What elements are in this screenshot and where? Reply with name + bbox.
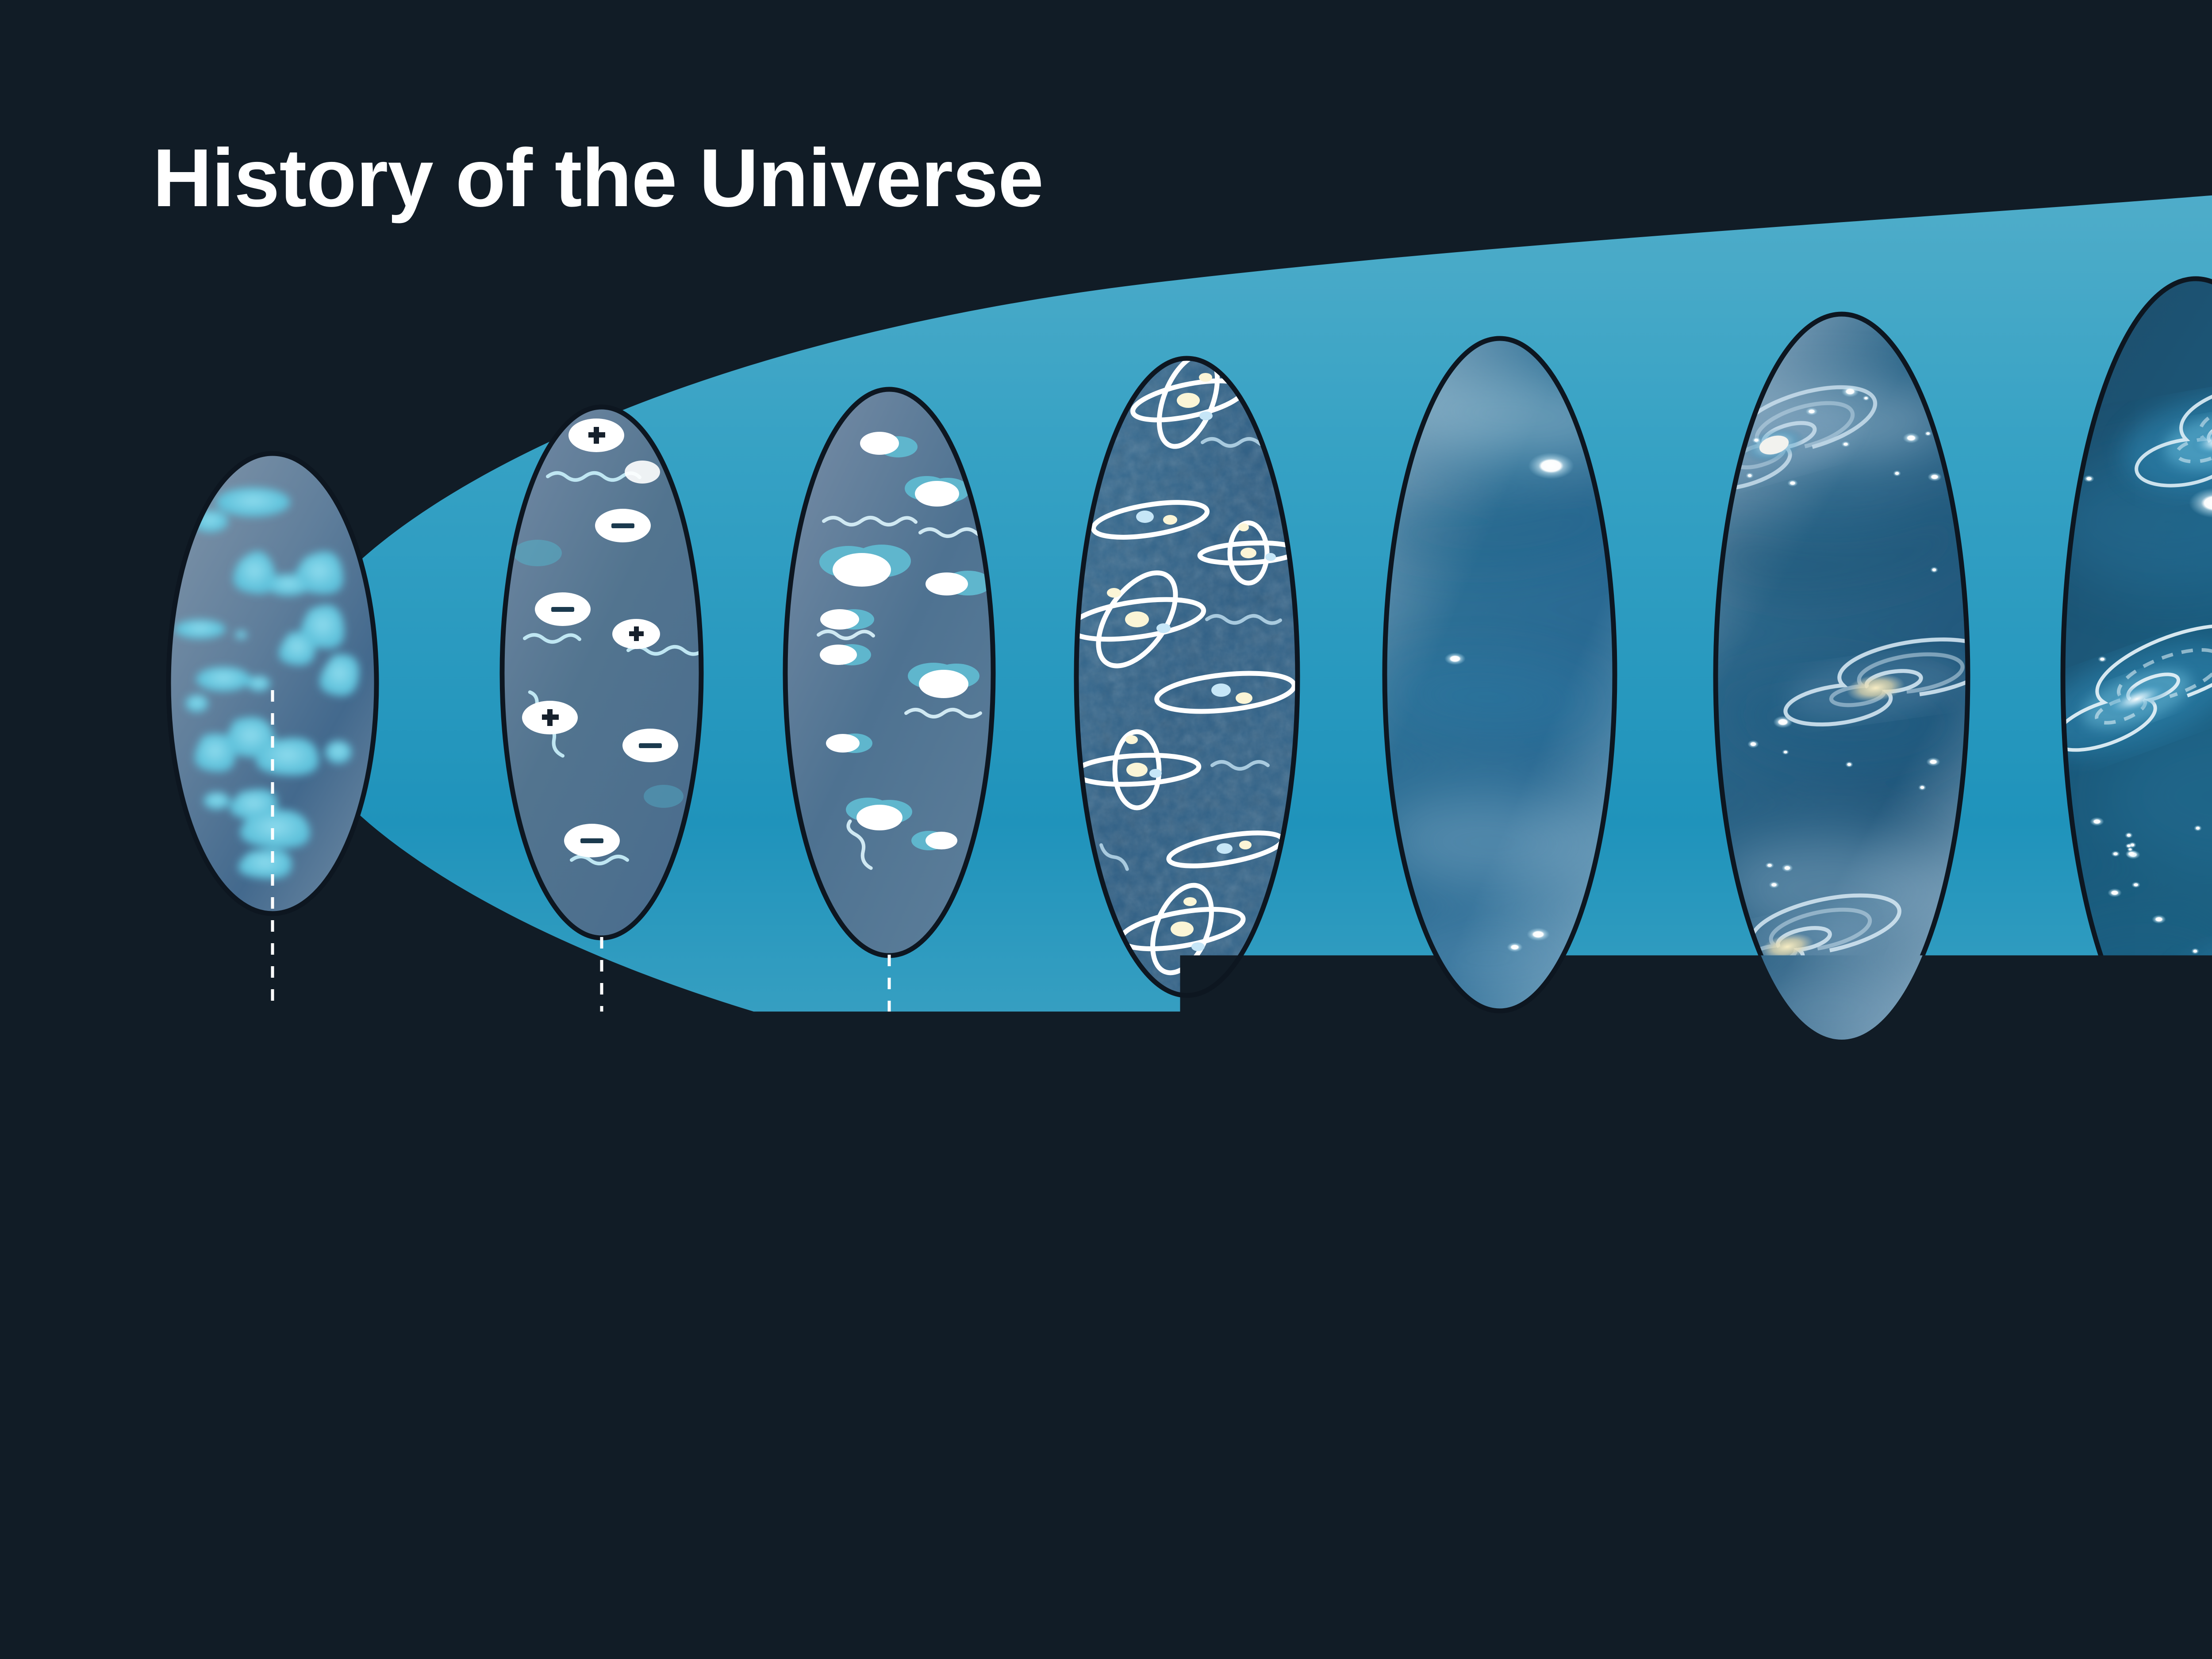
proton-icon — [522, 701, 578, 734]
nucleus-icon — [926, 571, 992, 595]
nucleus-icon — [826, 733, 872, 753]
proton-icon — [568, 419, 624, 452]
electron-icon — [564, 824, 620, 857]
infographic-canvas: History of the Universe 10−32 seconds 1 … — [0, 0, 2212, 1659]
panel-first-nuclei — [785, 389, 994, 956]
panel-first-particles — [502, 407, 702, 938]
electron-icon — [595, 509, 651, 542]
proton-icon — [625, 461, 660, 484]
nucleus-icon — [911, 831, 957, 850]
nucleus-icon — [820, 609, 874, 630]
universe-expansion-diagram — [0, 0, 2212, 1659]
proton-icon — [612, 619, 660, 649]
electron-icon — [622, 729, 678, 762]
panel-inflation — [169, 453, 376, 914]
page-title: History of the Universe — [153, 137, 1043, 219]
electron-icon — [535, 592, 591, 626]
nucleus-icon — [820, 644, 871, 665]
